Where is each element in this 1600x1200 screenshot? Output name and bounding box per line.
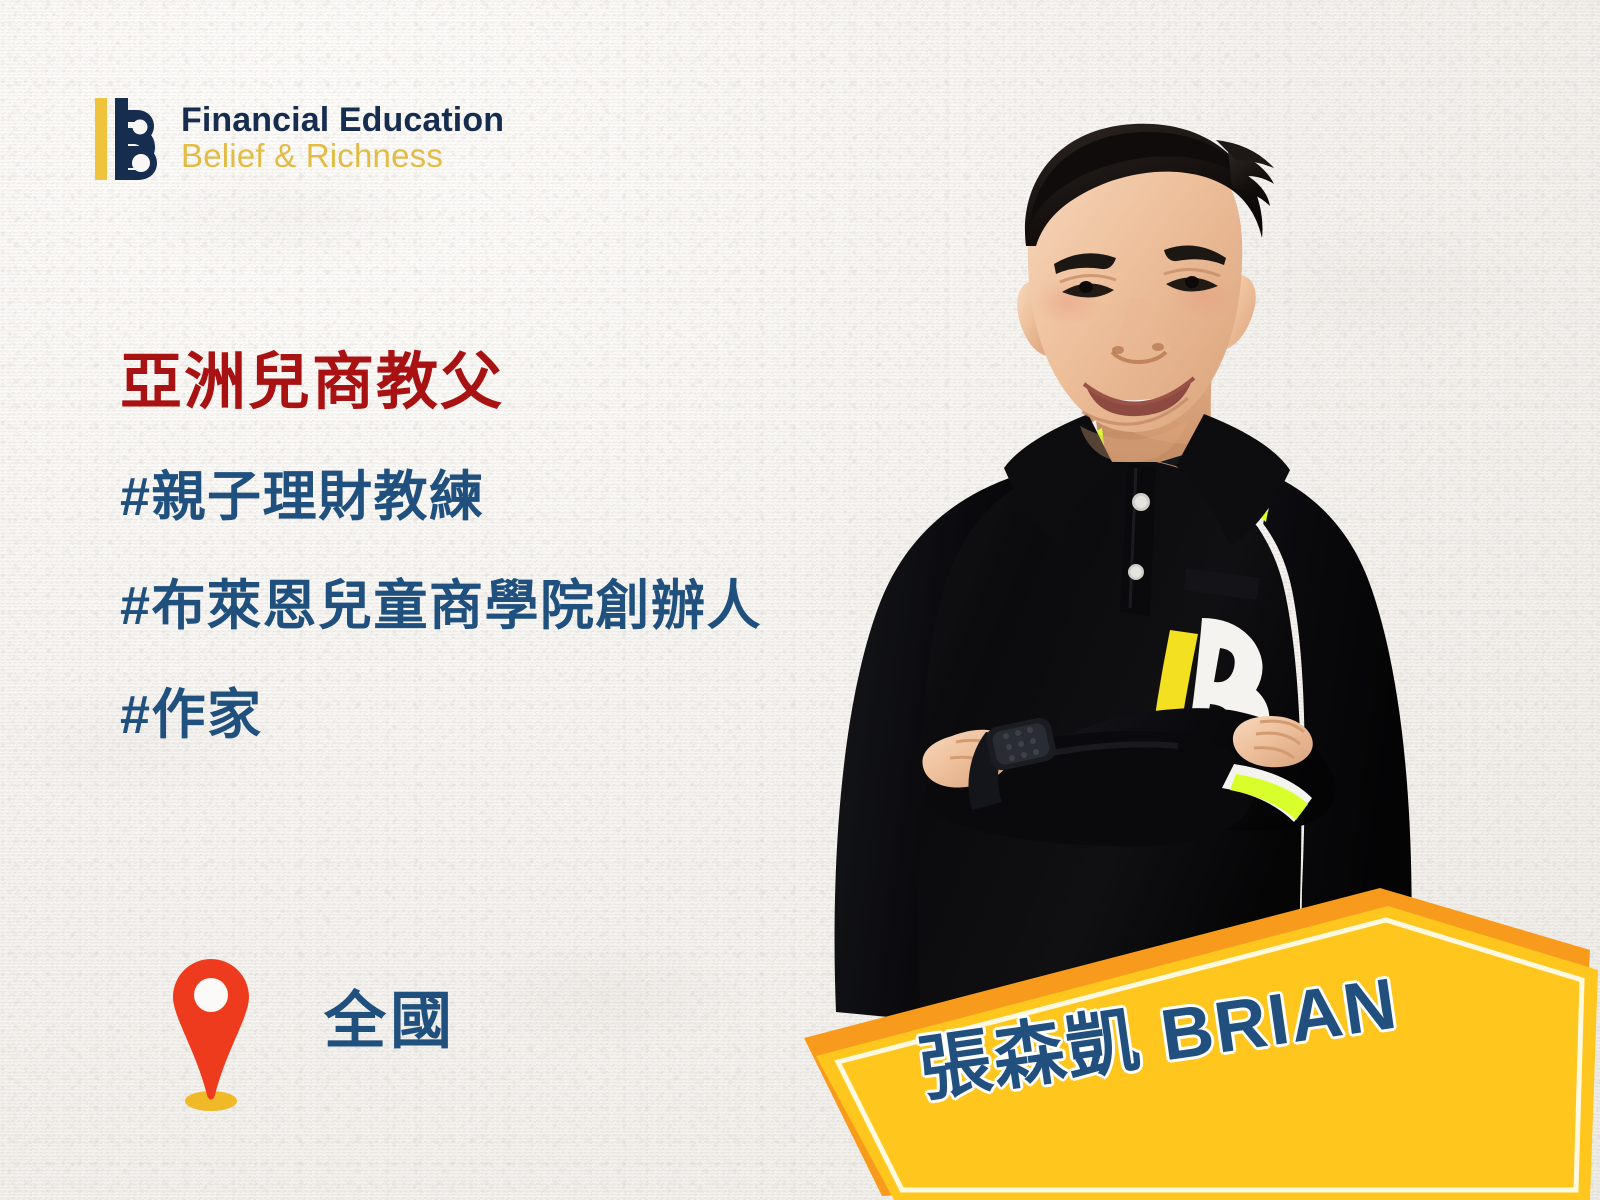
credential-tag: #布萊恩兒童商學院創辦人: [120, 579, 762, 633]
brand-logo-wordmark: Financial Education Belief & Richness: [181, 102, 504, 174]
credential-tag: #作家: [120, 688, 762, 742]
location-label: 全國: [324, 991, 456, 1053]
brand-logo-line1: Financial Education: [181, 102, 504, 138]
name-banner: 張森凱 BRIAN: [790, 860, 1600, 1200]
credential-tag: #親子理財教練: [120, 470, 762, 524]
credential-tag-list: #親子理財教練 #布萊恩兒童商學院創辦人 #作家: [120, 470, 762, 742]
location-row: 全國: [168, 955, 456, 1115]
brand-logo-line2: Belief & Richness: [181, 139, 504, 174]
map-pin-icon: [168, 955, 254, 1115]
b-monogram-logo-icon: [95, 94, 161, 182]
headline-title: 亞洲兒商教父: [120, 352, 504, 414]
speaker-profile-card: Financial Education Belief & Richness 亞洲…: [0, 0, 1600, 1200]
brand-logo: Financial Education Belief & Richness: [95, 94, 504, 182]
